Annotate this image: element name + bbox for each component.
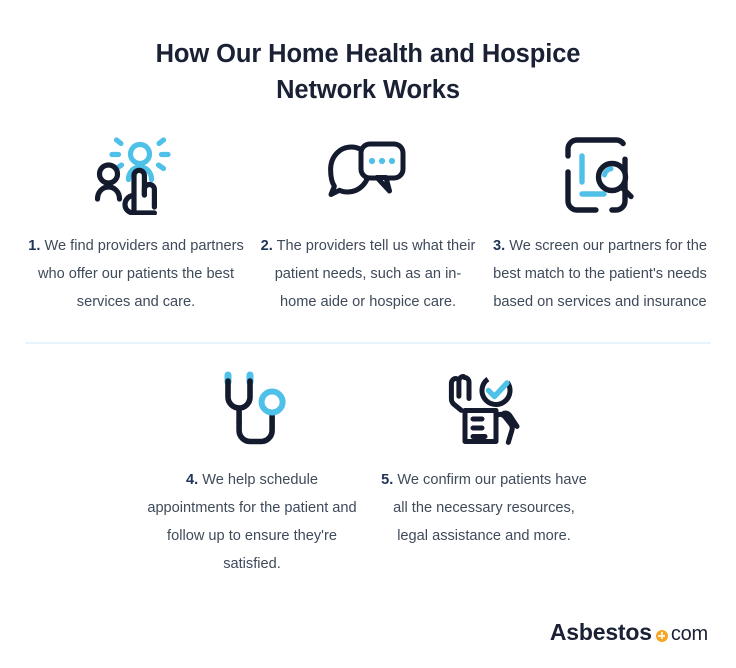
step-number-5: 5. [381, 472, 393, 488]
infographic-root: How Our Home Health and Hospice Network … [0, 0, 736, 668]
step-card-2: 2. The providers tell us what their pati… [252, 132, 484, 316]
people-found-icon [90, 132, 182, 218]
step-card-4: 4. We help schedule appointments for the… [136, 366, 368, 578]
step-card-3: 3. We screen our partners for the best m… [484, 132, 716, 316]
step-number-3: 3. [493, 238, 505, 254]
steps-row-top: 1. We find providers and partners who of… [0, 132, 736, 316]
step-description-2: 2. The providers tell us what their pati… [260, 232, 476, 316]
logo-wordmark: Asbestos [550, 619, 652, 646]
document-search-icon [562, 132, 638, 218]
step-description-3: 3. We screen our partners for the best m… [492, 232, 708, 316]
step-description-5: 5. We confirm our patients have all the … [376, 466, 592, 550]
step-body-3: We screen our partners for the best matc… [493, 238, 707, 310]
steps-row-bottom: 4. We help schedule appointments for the… [0, 366, 736, 578]
stethoscope-icon [213, 366, 291, 452]
step-body-2: The providers tell us what their patient… [275, 238, 476, 310]
step-card-5: 5. We confirm our patients have all the … [368, 366, 600, 550]
step-number-1: 1. [28, 238, 40, 254]
step-card-1: 1. We find providers and partners who of… [20, 132, 252, 316]
step-description-4: 4. We help schedule appointments for the… [144, 466, 360, 578]
step-body-4: We help schedule appointments for the pa… [147, 472, 356, 572]
orange-cross-dot-icon [656, 630, 668, 642]
speech-bubbles-icon [328, 132, 408, 218]
step-body-1: We find providers and partners who offer… [38, 238, 244, 310]
step-number-4: 4. [186, 472, 198, 488]
hands-checklist-icon [443, 366, 525, 452]
step-number-2: 2. [261, 238, 273, 254]
step-body-5: We confirm our patients have all the nec… [393, 472, 587, 544]
logo-tld: com [671, 623, 708, 646]
page-title: How Our Home Health and Hospice Network … [108, 36, 628, 108]
asbestos-logo[interactable]: Asbestos com [550, 619, 708, 646]
section-divider [25, 342, 711, 344]
step-description-1: 1. We find providers and partners who of… [28, 232, 244, 316]
